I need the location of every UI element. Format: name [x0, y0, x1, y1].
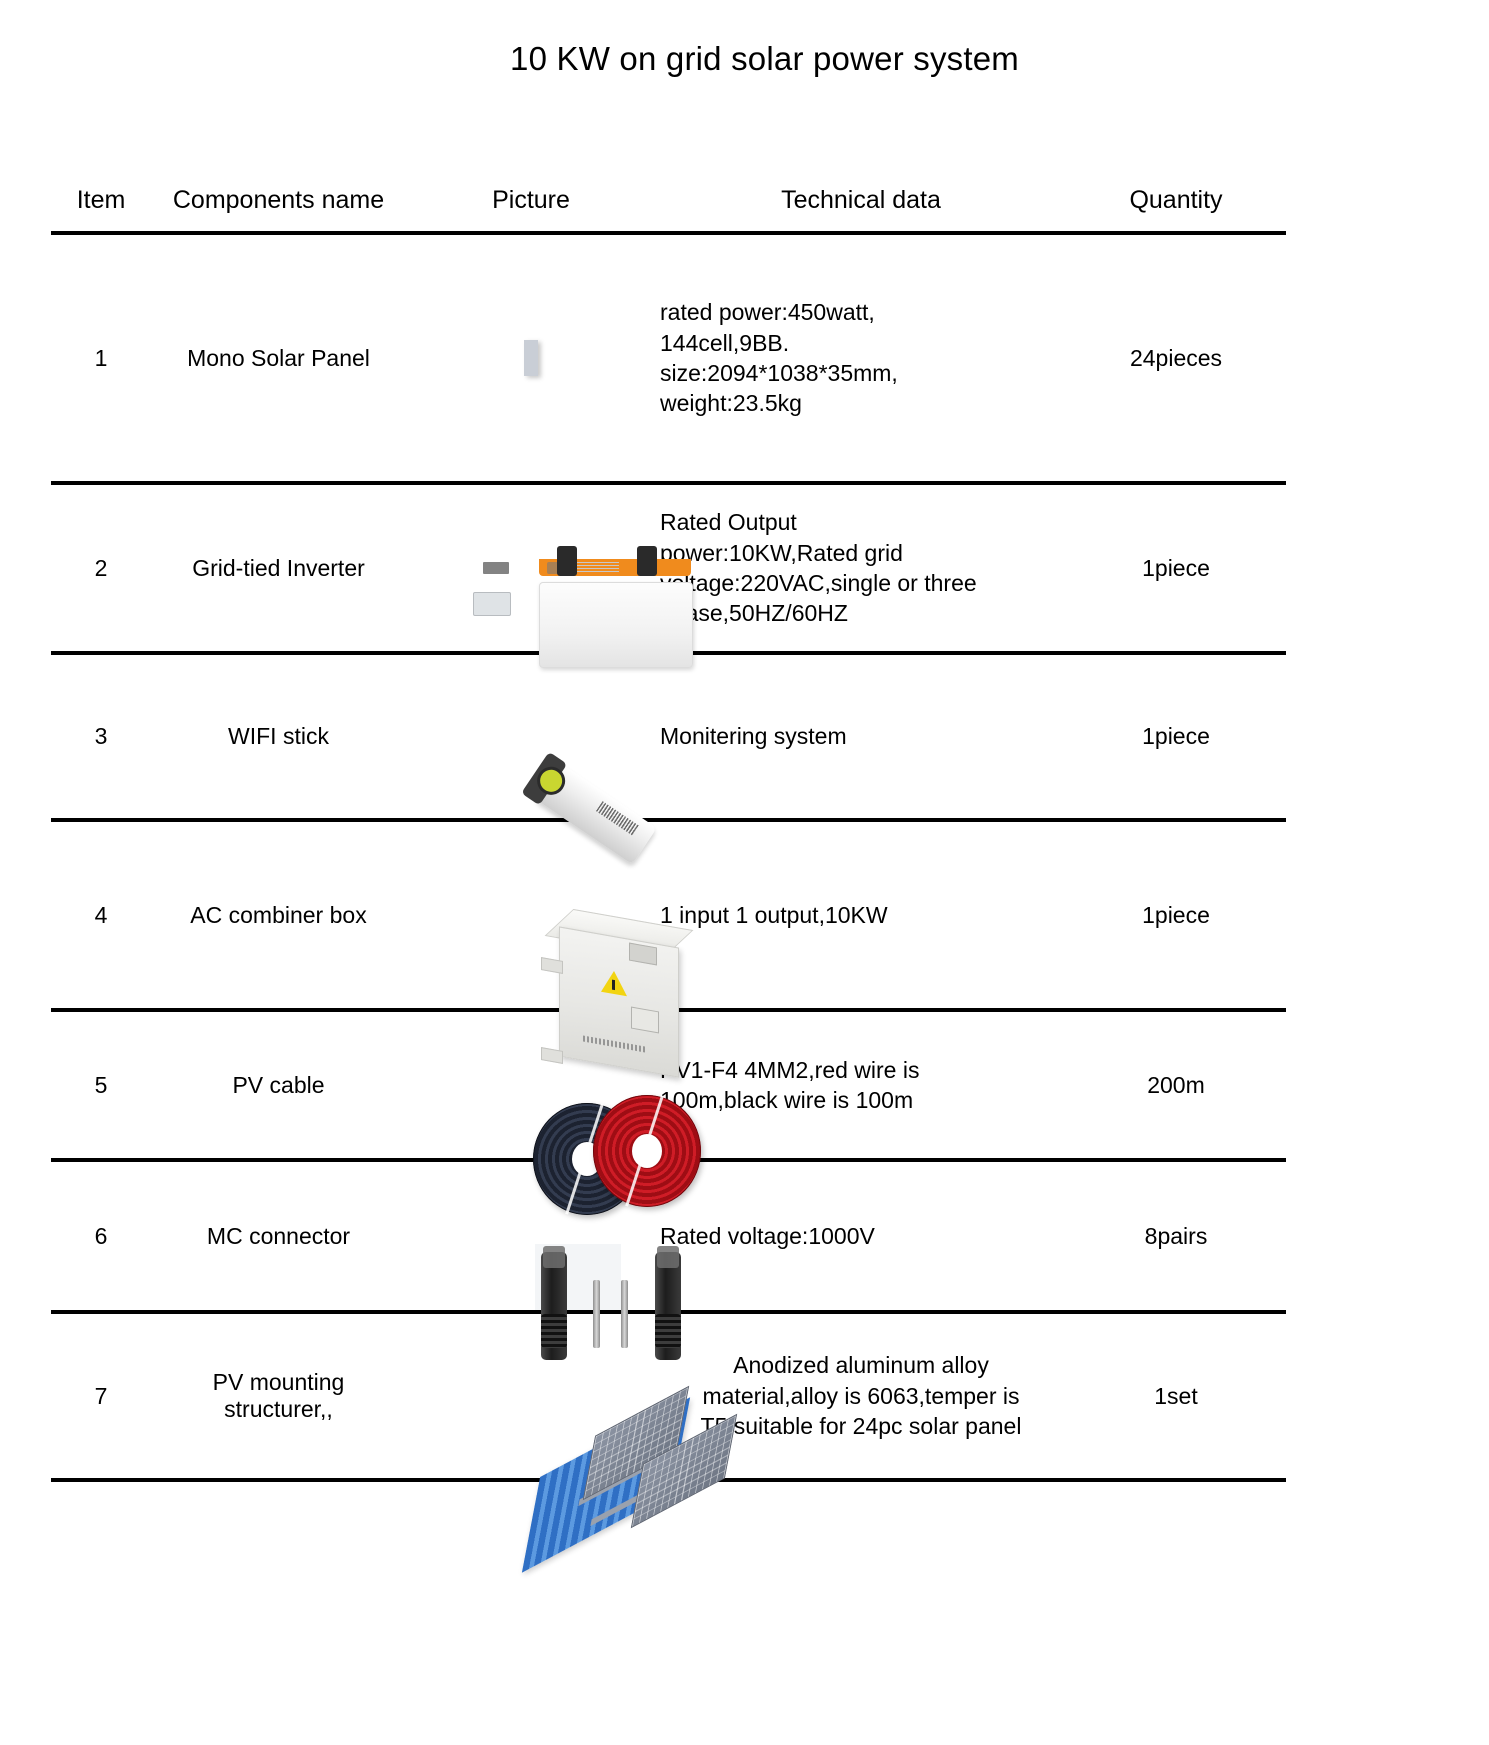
row-picture-cell: [406, 653, 656, 820]
row-quantity: 1piece: [1066, 653, 1286, 820]
row-component-name: PV cable: [151, 1010, 406, 1160]
table-body: 1 Mono Solar Panel rated power:450watt, …: [51, 233, 1286, 1480]
row-technical-data: rated power:450watt, 144cell,9BB. size:2…: [656, 233, 1066, 483]
row-quantity: 200m: [1066, 1010, 1286, 1160]
table-header: Item Components name Picture Technical d…: [51, 176, 1286, 233]
table-row: 1 Mono Solar Panel rated power:450watt, …: [51, 233, 1286, 483]
row-technical-data: PV1-F4 4MM2,red wire is 100m,black wire …: [656, 1010, 1066, 1160]
row-component-name: PV mounting structurer,,: [151, 1312, 406, 1480]
table-row: 4 AC combiner box 1 input 1 output,10KW …: [51, 820, 1286, 1010]
table-row: 3 WIFI stick Monitering system 1piece: [51, 653, 1286, 820]
page-title: 10 KW on grid solar power system: [40, 0, 1489, 78]
row-picture-cell: [406, 483, 656, 653]
table-header-row: Item Components name Picture Technical d…: [51, 176, 1286, 233]
row-item-number: 4: [51, 820, 151, 1010]
row-item-number: 6: [51, 1160, 151, 1312]
row-item-number: 1: [51, 233, 151, 483]
row-technical-data: Rated Output power:10KW,Rated grid volta…: [656, 483, 1066, 653]
column-header-item: Item: [51, 176, 151, 233]
row-component-name: MC connector: [151, 1160, 406, 1312]
row-quantity: 8pairs: [1066, 1160, 1286, 1312]
column-header-name: Components name: [151, 176, 406, 233]
row-item-number: 2: [51, 483, 151, 653]
column-header-technical: Technical data: [656, 176, 1066, 233]
row-picture-cell: [406, 1312, 656, 1480]
row-component-name: Grid-tied Inverter: [151, 483, 406, 653]
row-picture-cell: [406, 233, 656, 483]
column-header-picture: Picture: [406, 176, 656, 233]
row-item-number: 5: [51, 1010, 151, 1160]
table-row: 2 Grid-tied Inverter Rated Output power:…: [51, 483, 1286, 653]
row-item-number: 3: [51, 653, 151, 820]
row-component-name: WIFI stick: [151, 653, 406, 820]
row-component-name: AC combiner box: [151, 820, 406, 1010]
row-quantity: 1set: [1066, 1312, 1286, 1480]
row-quantity: 1piece: [1066, 820, 1286, 1010]
row-technical-data: Monitering system: [656, 653, 1066, 820]
row-quantity: 24pieces: [1066, 233, 1286, 483]
components-spec-table: Item Components name Picture Technical d…: [51, 176, 1286, 1482]
document-page: 10 KW on grid solar power system Item Co…: [0, 0, 1489, 1745]
row-component-name: Mono Solar Panel: [151, 233, 406, 483]
row-technical-data: 1 input 1 output,10KW: [656, 820, 1066, 1010]
row-technical-data: Rated voltage:1000V: [656, 1160, 1066, 1312]
solar-panel-photo: [524, 345, 538, 372]
column-header-quantity: Quantity: [1066, 176, 1286, 233]
row-quantity: 1piece: [1066, 483, 1286, 653]
row-item-number: 7: [51, 1312, 151, 1480]
